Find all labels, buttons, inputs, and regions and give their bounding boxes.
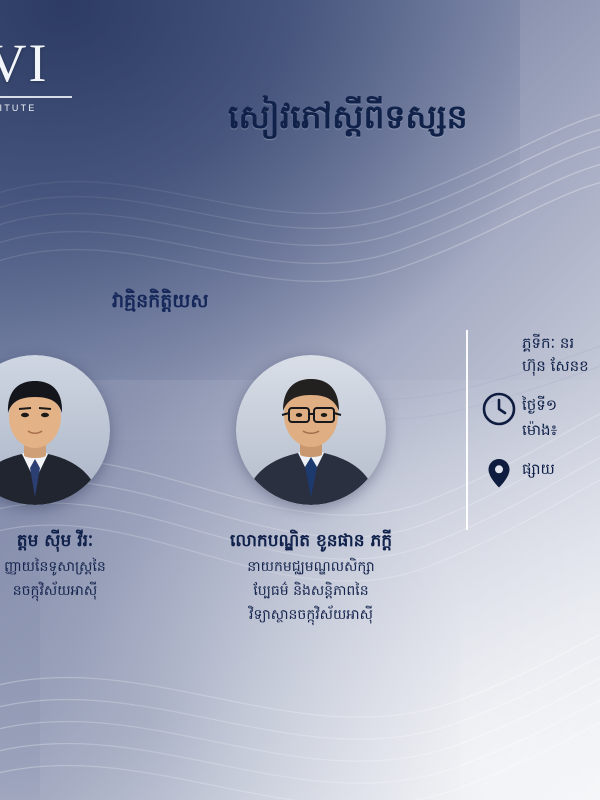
- speaker-1-name: ត្តម ស៊ីម វីរៈ: [0, 528, 200, 554]
- speaker-portrait-2: [236, 355, 386, 505]
- clock-icon: [482, 392, 516, 426]
- speaker-portrait-2-image: [236, 355, 386, 505]
- institute-logo: VI ITUTE: [0, 34, 78, 113]
- speaker-2-info: លោកបណ្ឌិត ខូនផាន ភក្ដី នាយកមជ្ឈមណ្ឌលសិក្…: [186, 528, 436, 626]
- poster-canvas: VI ITUTE សៀវភៅស្ដីពីទស្សន វាគ្មិនកិត្តិយ…: [0, 0, 600, 800]
- background-vignette-top-left: [0, 0, 520, 380]
- info-column-divider: [466, 330, 468, 530]
- event-broadcast-text: ផ្សាយ: [522, 456, 555, 481]
- event-time-text: ម៉ោង៖: [522, 417, 557, 442]
- speaker-1-role-line-2: នចក្កុវិស័យអាស៊ី: [0, 580, 200, 602]
- speaker-2-role-line-1: នាយកមជ្ឈមណ្ឌលសិក្សា: [186, 556, 436, 578]
- poster-title: សៀវភៅស្ដីពីទស្សន: [228, 95, 600, 139]
- speaker-portrait-1-image: [0, 355, 110, 505]
- speaker-2-role-line-2: ប្បែធម៌ និងសន្តិភាពនៃ: [186, 580, 436, 602]
- honoured-guest-label: វាគ្មិនកិត្តិយស: [112, 288, 208, 314]
- event-date-text: ថ្ងៃទី១: [522, 392, 557, 417]
- speaker-2-name: លោកបណ្ឌិត ខូនផាន ភក្ដី: [186, 528, 436, 554]
- location-pin-icon: [482, 456, 516, 490]
- speaker-1-role-line-1: ញ្ញាយនៃទូសាស្ត្រនៃ: [0, 556, 200, 578]
- event-topic-line-2: ហ៊ុន សែនខ: [522, 355, 589, 378]
- event-topic-line-1: ភ្គទីកៈ នរ: [522, 332, 589, 355]
- event-info-column: ភ្គទីកៈ នរ ហ៊ុន សែនខ ថ្ងៃទី១ ម៉ោង៖: [482, 332, 600, 504]
- speaker-1-info: ត្តម ស៊ីម វីរៈ ញ្ញាយនៃទូសាស្ត្រនៃ នចក្កុ…: [0, 528, 200, 602]
- speaker-2-role-line-3: វិទ្យាស្ថានចក្កុវិស័យអាស៊ី: [186, 604, 436, 626]
- speaker-portrait-1: [0, 355, 110, 505]
- event-topic-row: ភ្គទីកៈ នរ ហ៊ុន សែនខ: [482, 332, 600, 378]
- logo-subtitle: ITUTE: [0, 103, 78, 113]
- logo-divider: [0, 96, 72, 98]
- event-datetime-row: ថ្ងៃទី១ ម៉ោង៖: [482, 392, 600, 442]
- event-location-row: ផ្សាយ: [482, 456, 600, 490]
- logo-monogram: VI: [0, 34, 78, 92]
